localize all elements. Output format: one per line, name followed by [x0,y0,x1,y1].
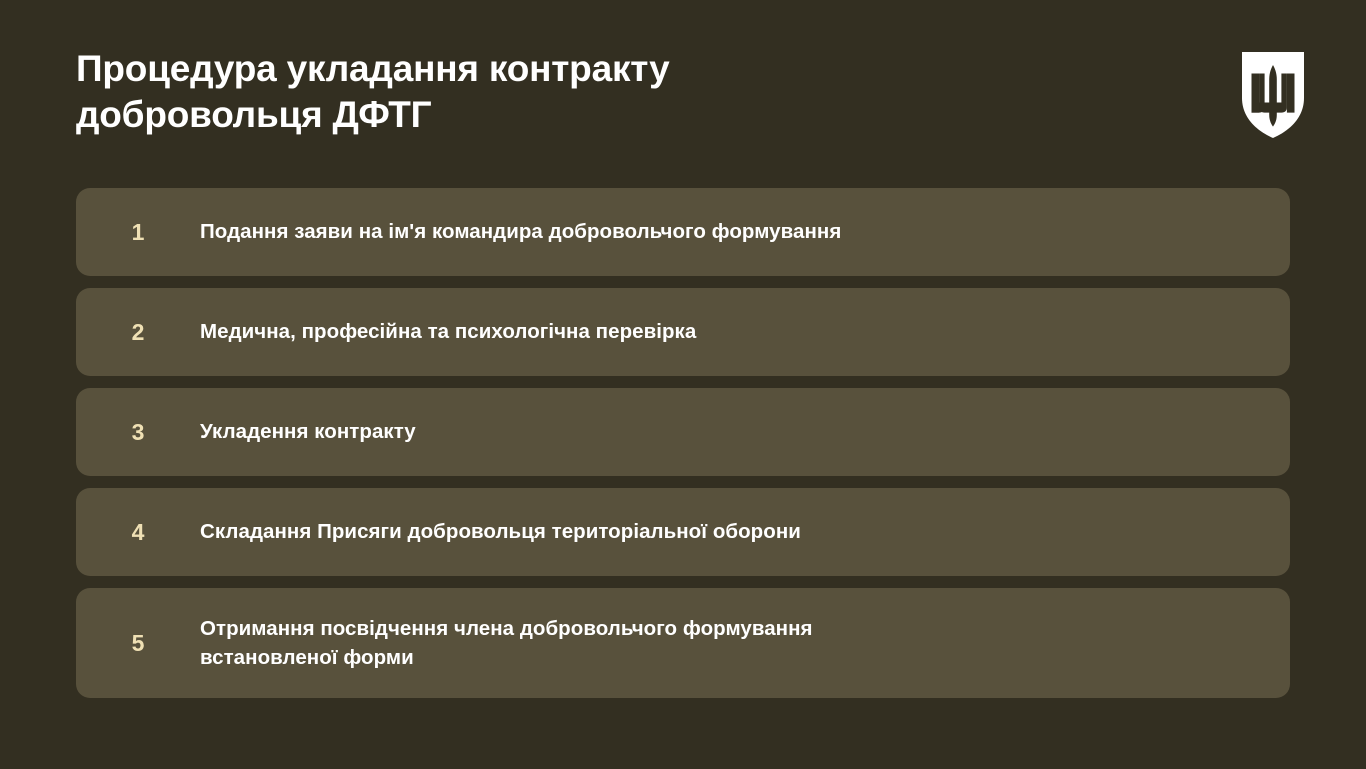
steps-list: 1 Подання заяви на ім'я командира добров… [76,188,1290,698]
step-label: Складання Присяги добровольця територіал… [200,517,1264,546]
step-item-4: 4 Складання Присяги добровольця територі… [76,488,1290,576]
page-title: Процедура укладання контракту добровольц… [76,46,669,138]
step-label: Укладення контракту [200,417,1264,446]
step-label: Отримання посвідчення члена добровольчог… [200,614,1264,672]
step-label: Подання заяви на ім'я командира добровол… [200,217,1264,246]
step-item-3: 3 Укладення контракту [76,388,1290,476]
step-number: 1 [76,221,200,244]
step-number: 4 [76,521,200,544]
ukraine-mod-shield-trident-emblem [1242,52,1304,138]
step-number: 3 [76,421,200,444]
slide-header: Процедура укладання контракту добровольц… [76,46,1306,138]
step-item-1: 1 Подання заяви на ім'я командира добров… [76,188,1290,276]
slide-root: Процедура укладання контракту добровольц… [0,0,1366,769]
step-item-2: 2 Медична, професійна та психологічна пе… [76,288,1290,376]
step-number: 2 [76,321,200,344]
step-label: Медична, професійна та психологічна пере… [200,317,1264,346]
step-number: 5 [76,632,200,655]
step-item-5: 5 Отримання посвідчення члена добровольч… [76,588,1290,698]
